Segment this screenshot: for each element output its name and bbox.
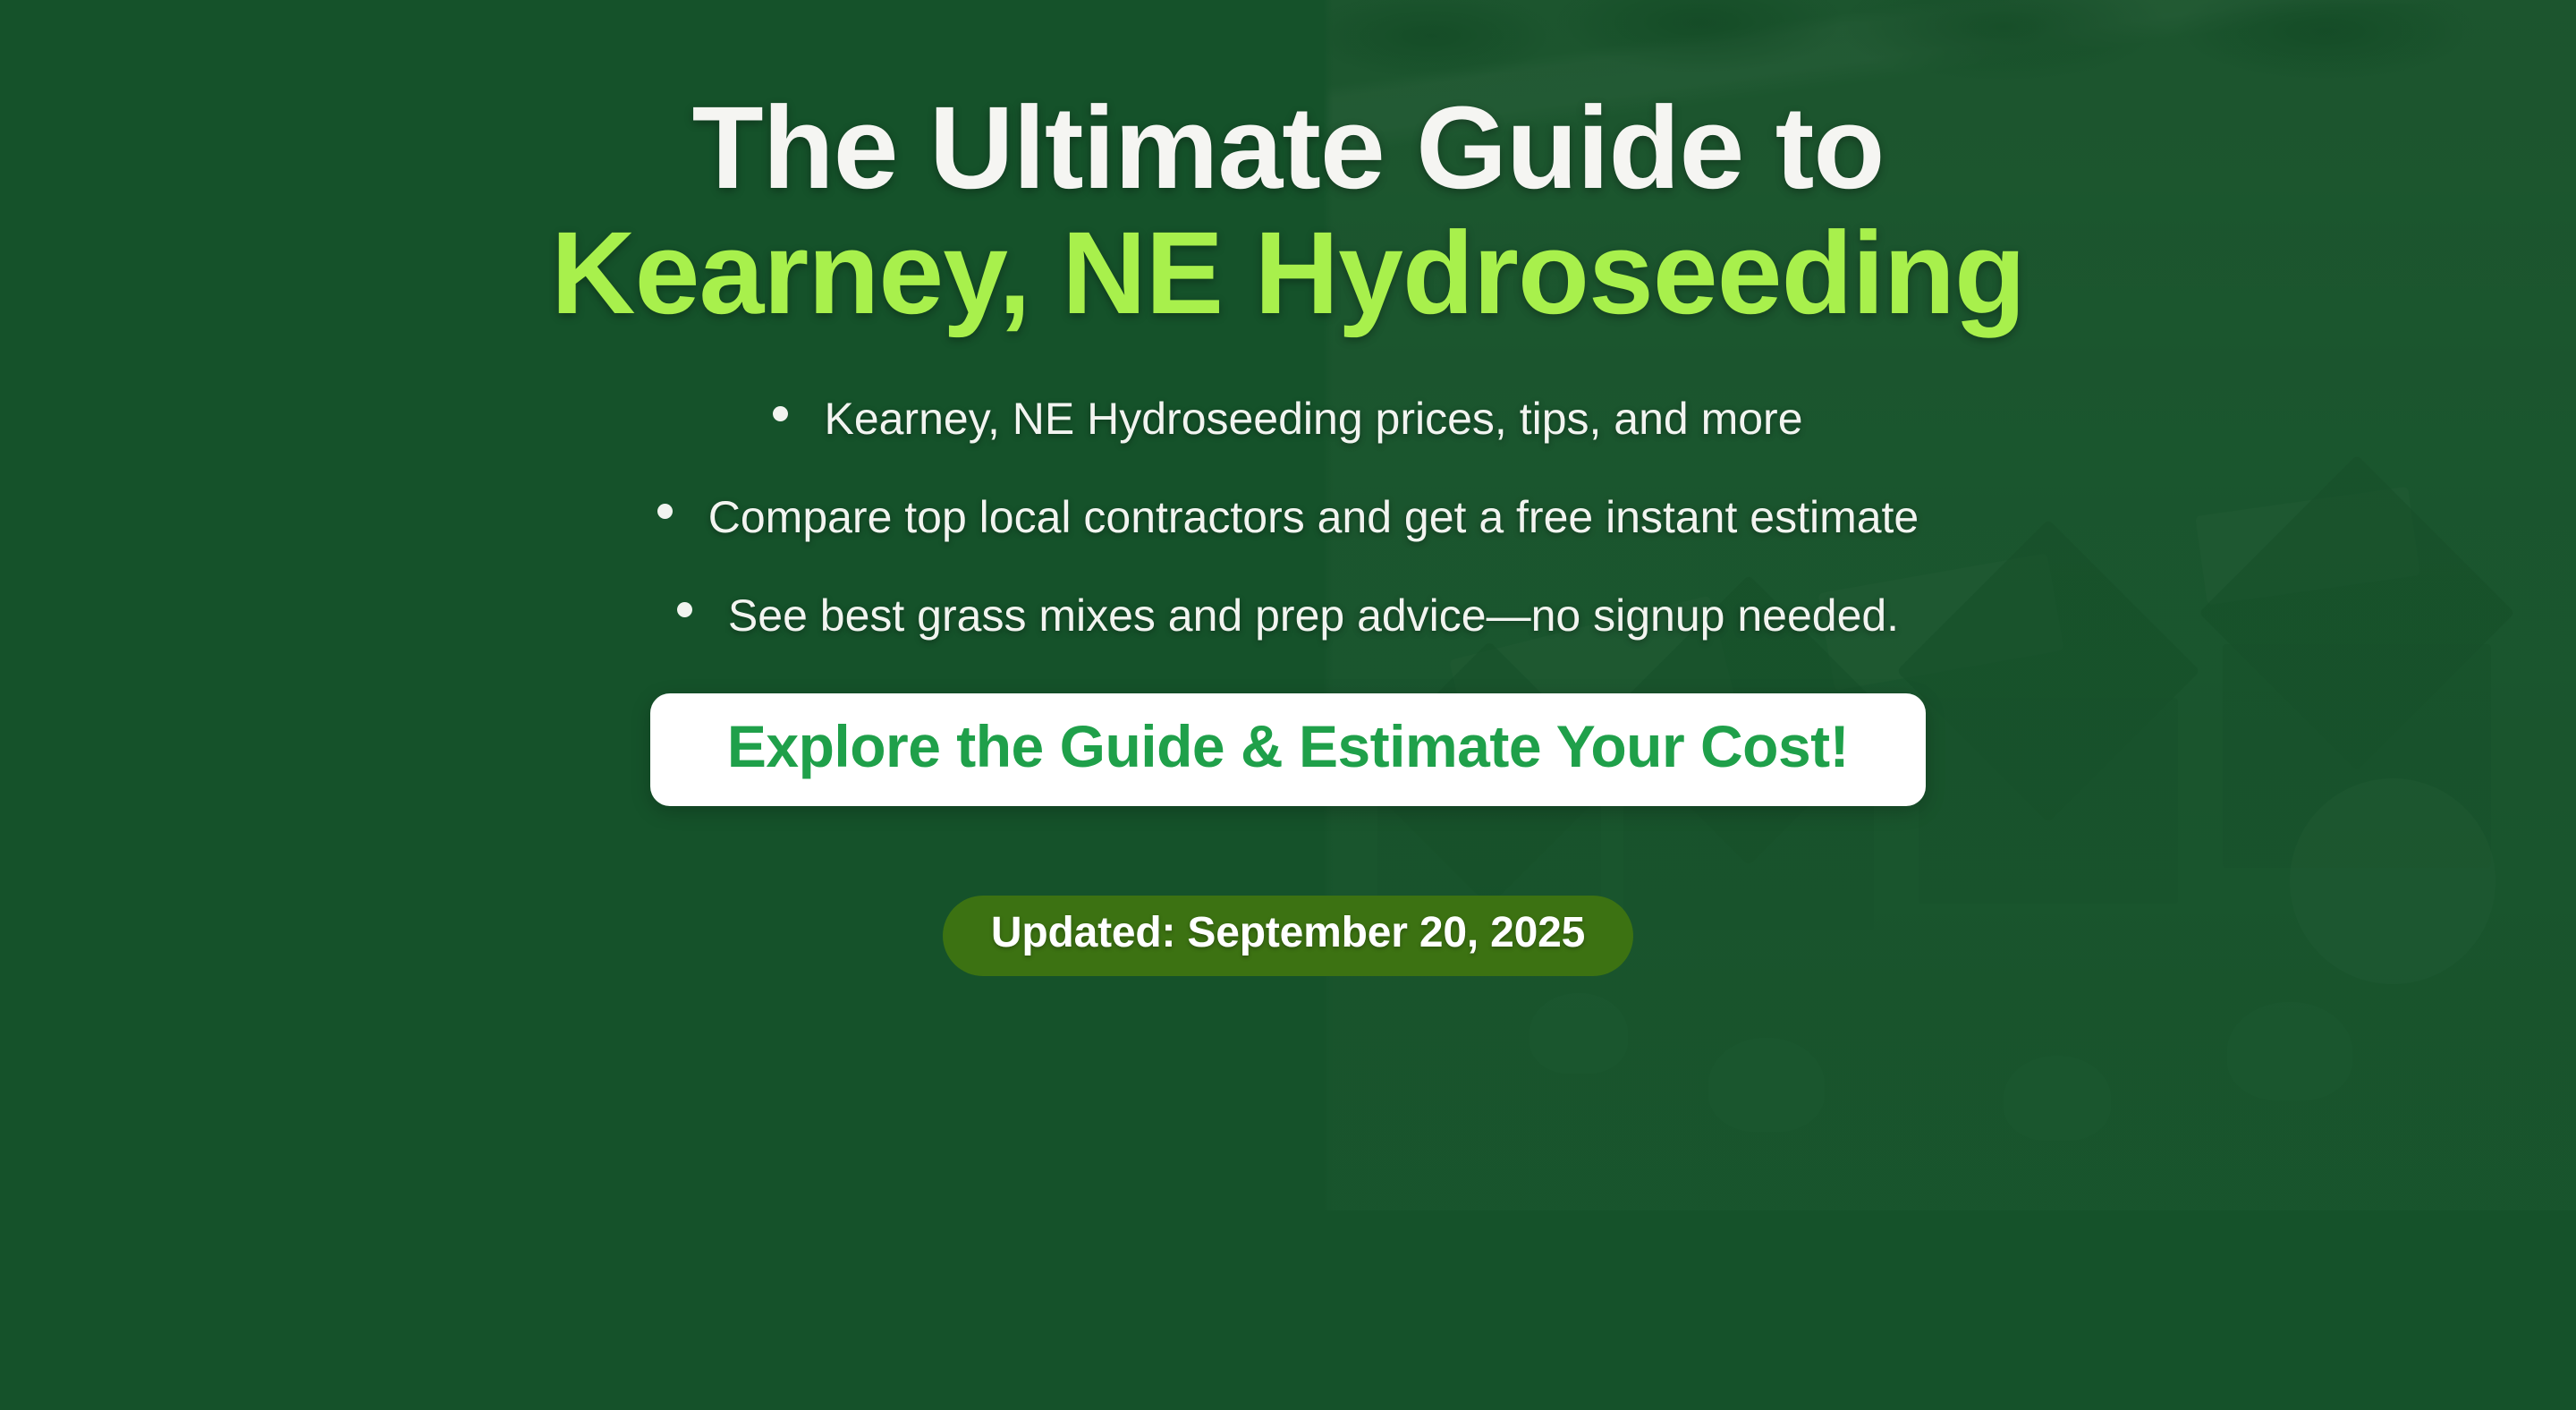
page-title-line-1: The Ultimate Guide to bbox=[0, 88, 2576, 208]
hero-content: The Ultimate Guide to Kearney, NE Hydros… bbox=[0, 0, 2576, 1410]
explore-guide-cta-button[interactable]: Explore the Guide & Estimate Your Cost! bbox=[650, 693, 1926, 806]
bullet-dot-icon bbox=[657, 504, 673, 519]
list-item-label: See best grass mixes and prep advice—no … bbox=[728, 590, 1899, 641]
list-item: See best grass mixes and prep advice—no … bbox=[0, 590, 2576, 638]
list-item-label: Kearney, NE Hydroseeding prices, tips, a… bbox=[824, 394, 1802, 444]
bullet-dot-icon bbox=[773, 406, 788, 421]
page-title-line-2: Kearney, NE Hydroseeding bbox=[0, 213, 2576, 333]
list-item: Compare top local contractors and get a … bbox=[0, 491, 2576, 539]
list-item: Kearney, NE Hydroseeding prices, tips, a… bbox=[0, 393, 2576, 441]
bullet-dot-icon bbox=[677, 602, 692, 617]
updated-date-badge: Updated: September 20, 2025 bbox=[943, 896, 1633, 976]
list-item-label: Compare top local contractors and get a … bbox=[708, 492, 1919, 542]
feature-bullet-list: Kearney, NE Hydroseeding prices, tips, a… bbox=[0, 393, 2576, 687]
hero-banner: The Ultimate Guide to Kearney, NE Hydros… bbox=[0, 0, 2576, 1410]
